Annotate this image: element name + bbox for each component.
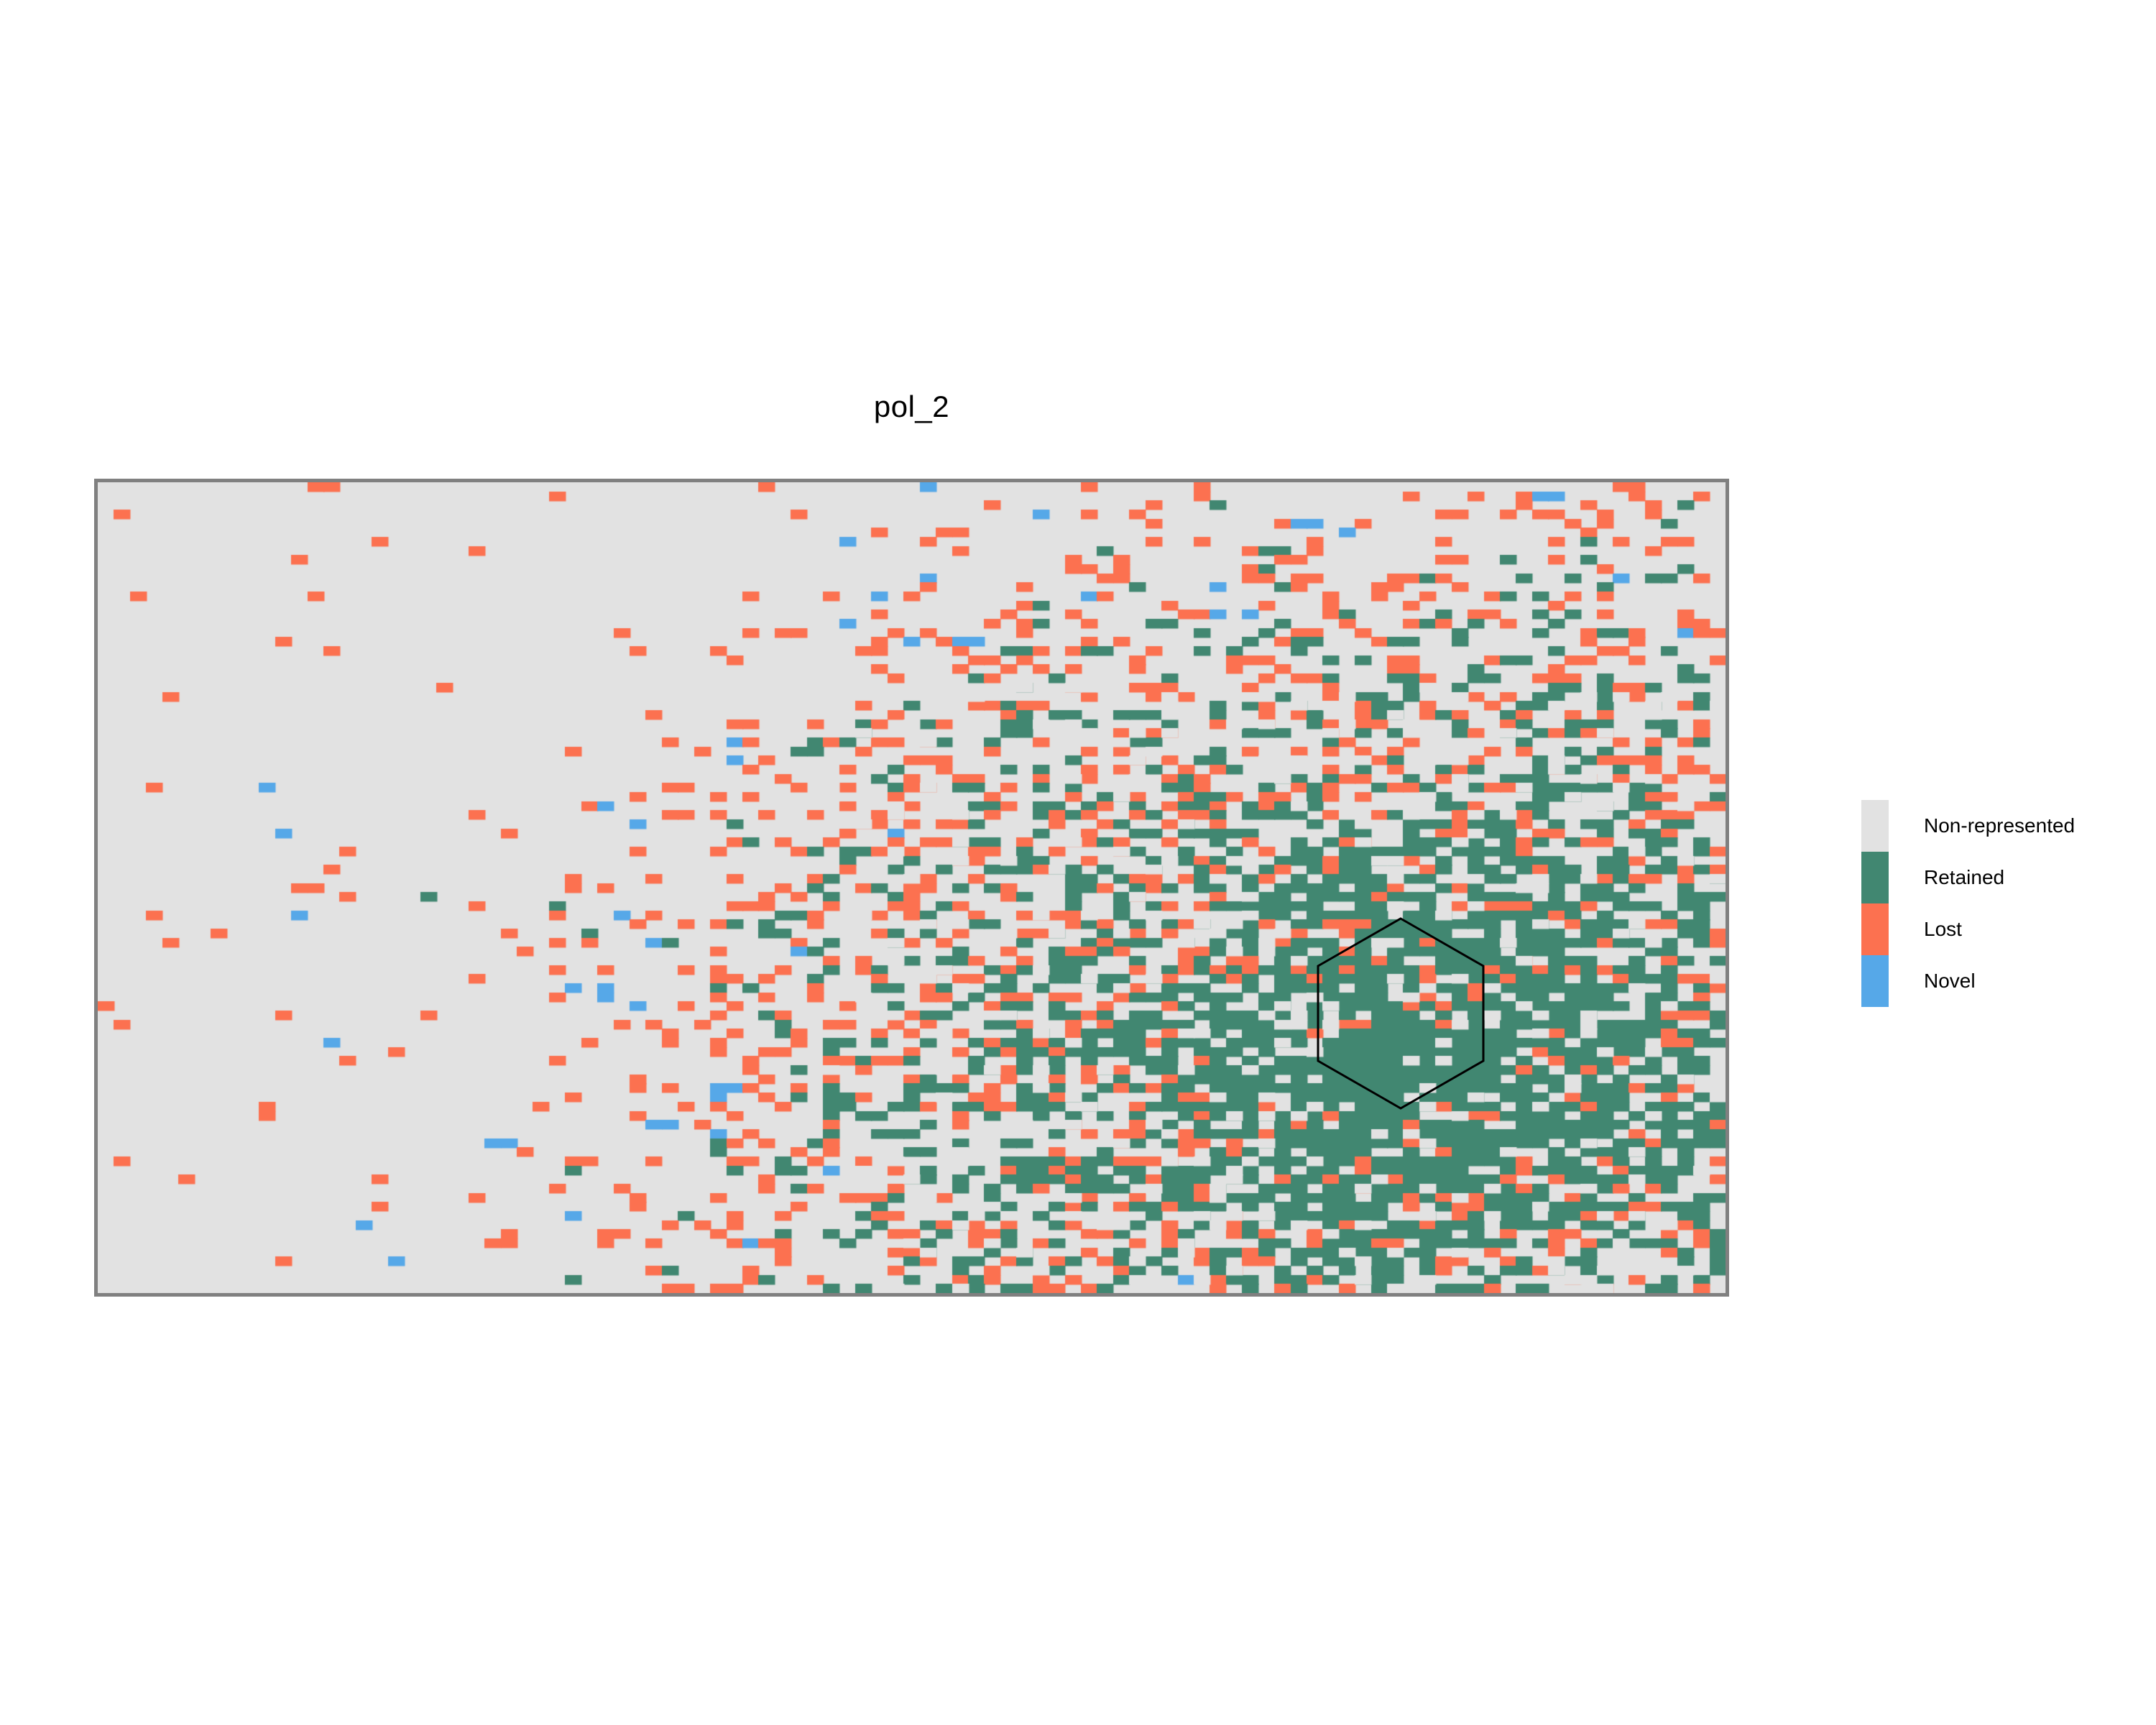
legend-label-non-represented: Non-represented — [1924, 800, 2075, 852]
figure-root: pol_2 Non-represented Retained Lost Nove… — [0, 0, 2156, 1725]
legend: Non-represented Retained Lost Novel — [1861, 800, 2149, 1007]
legend-label-lost: Lost — [1924, 903, 1962, 955]
legend-swatch-retained — [1861, 852, 1889, 903]
legend-swatch-non-represented — [1861, 800, 1889, 852]
legend-swatch-novel — [1861, 955, 1889, 1007]
page-title: pol_2 — [94, 388, 1729, 425]
legend-label-retained: Retained — [1924, 852, 2004, 903]
legend-swatch-lost — [1861, 903, 1889, 955]
legend-item-retained[interactable]: Retained — [1861, 852, 2149, 903]
legend-item-lost[interactable]: Lost — [1861, 903, 2149, 955]
heatmap-panel[interactable] — [94, 479, 1729, 1297]
heatmap-grid — [98, 482, 1726, 1293]
legend-item-novel[interactable]: Novel — [1861, 955, 2149, 1007]
legend-item-non-represented[interactable]: Non-represented — [1861, 800, 2149, 852]
legend-label-novel: Novel — [1924, 955, 1976, 1007]
